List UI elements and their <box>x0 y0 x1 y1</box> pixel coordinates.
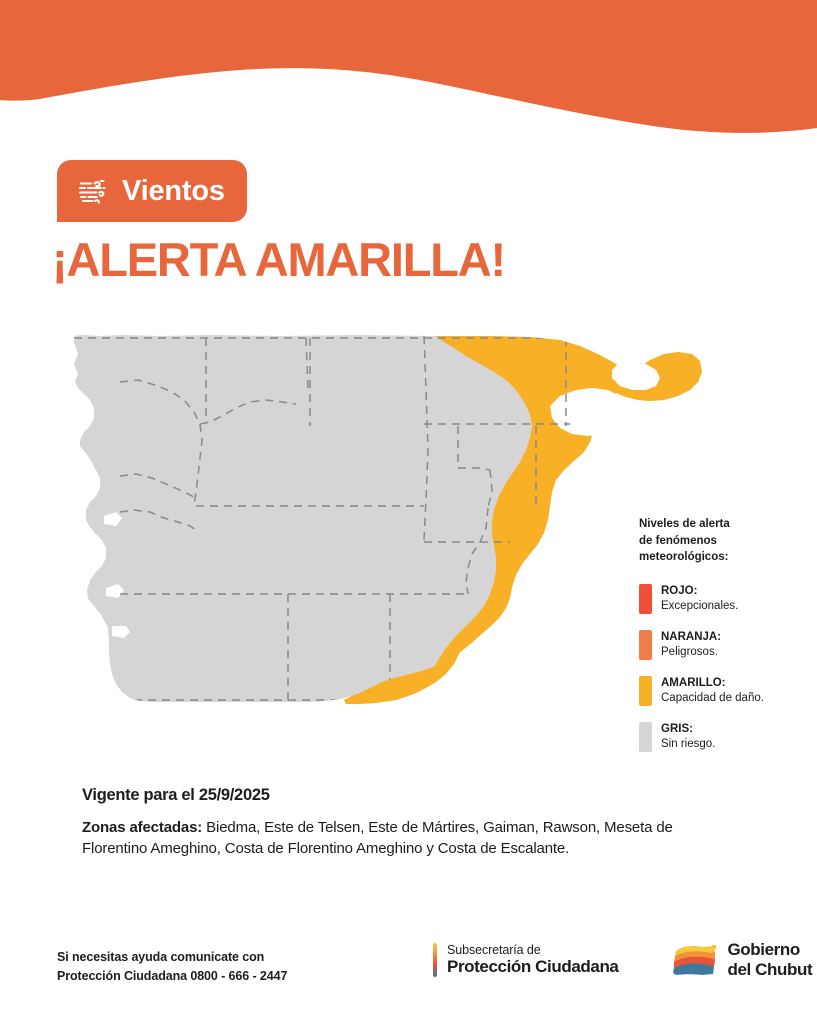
legend-swatch-gris <box>639 722 652 752</box>
logo-gobierno-chubut: Gobierno del Chubut <box>672 940 812 979</box>
wind-icon <box>75 174 109 208</box>
legend-label-gris: GRIS: <box>661 722 715 737</box>
logo-subsecretaria-line1: Subsecretaría de <box>447 943 618 957</box>
legend-item-rojo: ROJO: Excepcionales. <box>639 583 799 614</box>
footer-contact-line2: Protección Ciudadana 0800 - 666 - 2447 <box>57 967 287 986</box>
alert-levels-legend: Niveles de alerta de fenómenos meteoroló… <box>639 516 799 767</box>
legend-label-amarillo: AMARILLO: <box>661 676 764 691</box>
legend-title: Niveles de alerta de fenómenos meteoroló… <box>639 516 799 566</box>
logo-gobierno-line1: Gobierno <box>727 940 812 960</box>
footer-contact: Si necesitas ayuda comunicate con Protec… <box>57 948 287 986</box>
logo-gobierno-line2: del Chubut <box>727 960 812 980</box>
legend-desc-naranja: Peligrosos. <box>661 645 721 660</box>
legend-swatch-rojo <box>639 584 652 614</box>
legend-swatch-naranja <box>639 630 652 660</box>
footer-contact-line1: Si necesitas ayuda comunicate con <box>57 948 287 967</box>
chubut-logo-icon <box>672 943 718 977</box>
logo-subsecretaria-line2: Protección Ciudadana <box>447 957 618 977</box>
legend-desc-amarillo: Capacidad de daño. <box>661 691 764 706</box>
validity-date: Vigente para el 25/9/2025 <box>82 786 722 805</box>
affected-zones-label: Zonas afectadas: <box>82 819 202 836</box>
legend-label-rojo: ROJO: <box>661 584 738 599</box>
affected-zones: Zonas afectadas: Biedma, Este de Telsen,… <box>82 817 722 860</box>
legend-item-amarillo: AMARILLO: Capacidad de daño. <box>639 675 799 706</box>
category-badge-label: Vientos <box>122 177 225 206</box>
legend-item-gris: GRIS: Sin riesgo. <box>639 721 799 752</box>
category-badge: Vientos <box>57 160 247 222</box>
chubut-map-svg <box>60 330 710 740</box>
footer-logos: Subsecretaría de Protección Ciudadana Go… <box>433 940 812 979</box>
legend-desc-gris: Sin riesgo. <box>661 737 715 752</box>
legend-label-naranja: NARANJA: <box>661 630 721 645</box>
legend-desc-rojo: Excepcionales. <box>661 599 738 614</box>
alert-headline: ¡ALERTA AMARILLA! <box>52 236 505 283</box>
legend-item-naranja: NARANJA: Peligrosos. <box>639 629 799 660</box>
header-wave-shape <box>0 0 817 150</box>
alert-details: Vigente para el 25/9/2025 Zonas afectada… <box>82 786 722 860</box>
header-wave-banner <box>0 0 817 150</box>
logo-subsecretaria: Subsecretaría de Protección Ciudadana <box>433 943 618 977</box>
alert-map <box>60 330 710 740</box>
logo-gradient-bar-icon <box>433 943 437 977</box>
legend-swatch-amarillo <box>639 676 652 706</box>
